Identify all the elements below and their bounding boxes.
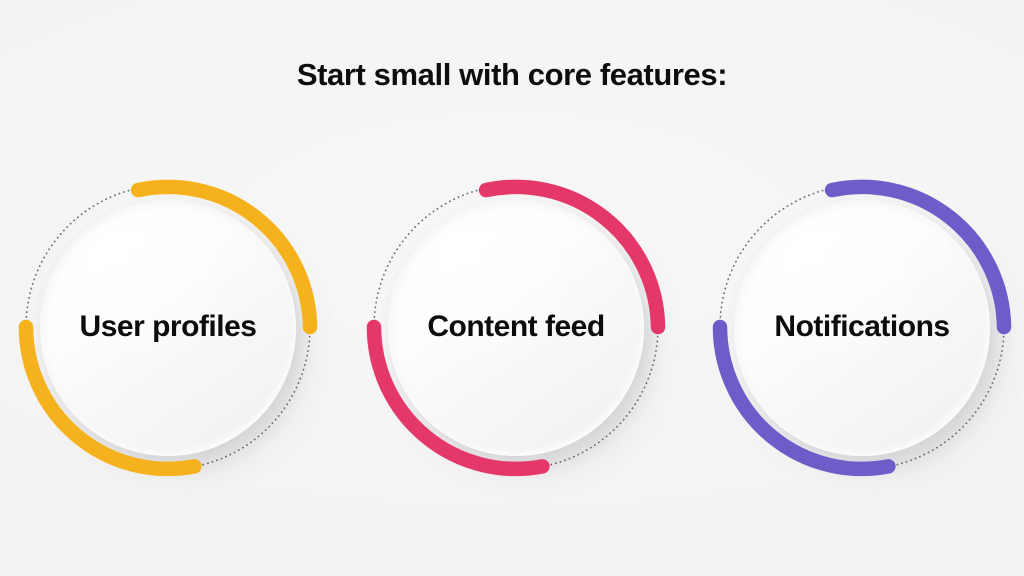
- progress-arc-top: [138, 187, 310, 327]
- progress-arc-top: [486, 187, 658, 327]
- page-title: Start small with core features:: [0, 56, 1024, 93]
- feature-ring-graphic: [18, 176, 318, 478]
- feature-ring-graphic: [366, 176, 666, 478]
- feature-card-content-feed[interactable]: Content feed: [366, 176, 666, 478]
- progress-arc-top: [832, 187, 1004, 327]
- feature-circle-group: User profiles Content feed Notifications: [0, 176, 1024, 478]
- progress-arc-bottom: [374, 327, 542, 469]
- feature-card-user-profiles[interactable]: User profiles: [18, 176, 318, 478]
- slide-canvas: Start small with core features: User pro…: [0, 0, 1024, 576]
- feature-card-notifications[interactable]: Notifications: [712, 176, 1012, 478]
- feature-ring-graphic: [712, 176, 1012, 478]
- progress-arc-bottom: [26, 327, 194, 469]
- progress-arc-bottom: [720, 327, 888, 469]
